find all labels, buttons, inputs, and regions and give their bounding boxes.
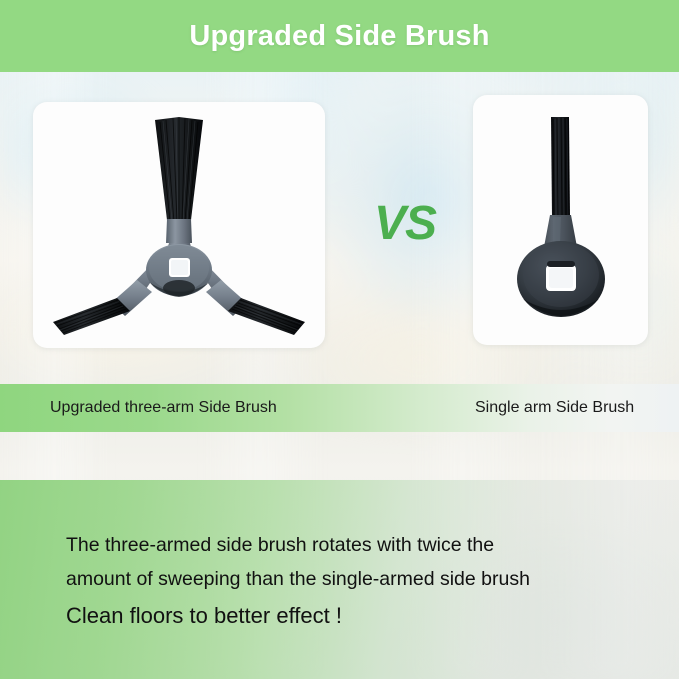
benefit-line-2: amount of sweeping than the single-armed… bbox=[66, 562, 666, 596]
benefit-line-3: Clean floors to better effect ! bbox=[66, 598, 666, 634]
top-arm-holder bbox=[166, 219, 192, 243]
product-card-upgraded bbox=[33, 102, 325, 348]
top-arm-bristles bbox=[155, 117, 203, 224]
single-arm-bristles bbox=[551, 117, 570, 217]
single-arm-side-brush-icon bbox=[473, 95, 648, 345]
page-title: Upgraded Side Brush bbox=[189, 20, 489, 53]
product-infographic: Upgraded Side Brush bbox=[0, 0, 679, 679]
benefit-line-1: The three-armed side brush rotates with … bbox=[66, 528, 666, 562]
caption-upgraded-brush: Upgraded three-arm Side Brush bbox=[50, 399, 277, 417]
product-card-single-inner bbox=[473, 95, 648, 345]
right-arm-bristles bbox=[228, 298, 305, 335]
versus-label: VS bbox=[355, 196, 455, 252]
single-arm-base-disc bbox=[517, 241, 605, 317]
left-arm-bristles bbox=[53, 298, 130, 335]
benefit-text-block: The three-armed side brush rotates with … bbox=[66, 528, 666, 634]
header-banner: Upgraded Side Brush bbox=[0, 0, 679, 72]
product-card-upgraded-inner bbox=[33, 102, 325, 348]
three-arm-side-brush-icon bbox=[33, 102, 325, 348]
caption-single-brush: Single arm Side Brush bbox=[475, 399, 634, 417]
product-card-single bbox=[473, 95, 648, 345]
